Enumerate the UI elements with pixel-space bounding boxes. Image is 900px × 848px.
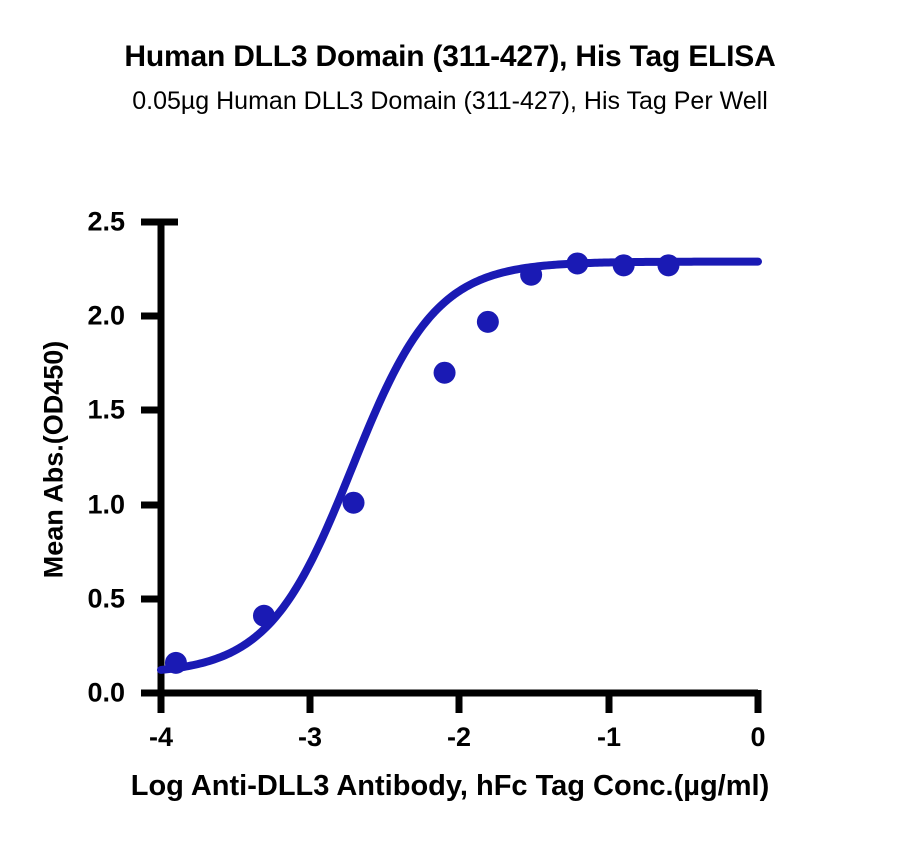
data-point: [343, 492, 365, 514]
elisa-chart: Human DLL3 Domain (311-427), His Tag ELI…: [0, 0, 900, 848]
x-tick-label-2: -2: [447, 722, 471, 753]
data-point: [253, 605, 275, 627]
data-point: [477, 311, 499, 333]
data-point-group: [165, 252, 680, 673]
x-tick-label-1: -3: [298, 722, 322, 753]
data-point: [434, 362, 456, 384]
data-point: [165, 652, 187, 674]
x-axis-title: Log Anti-DLL3 Antibody, hFc Tag Conc.(µg…: [0, 770, 900, 803]
data-point: [613, 254, 635, 276]
data-point: [657, 254, 679, 276]
y-axis-title: Mean Abs.(OD450): [39, 280, 70, 640]
x-tick-label-3: -1: [597, 722, 621, 753]
data-point: [566, 252, 588, 274]
fit-curve: [161, 262, 758, 670]
x-tick-label-4: 0: [750, 722, 765, 753]
data-point: [520, 264, 542, 286]
y-tick-label-0: 0.0: [30, 678, 125, 709]
x-tick-label-0: -4: [149, 722, 173, 753]
plot-area: [0, 0, 900, 848]
y-tick-label-5: 2.5: [30, 207, 125, 238]
